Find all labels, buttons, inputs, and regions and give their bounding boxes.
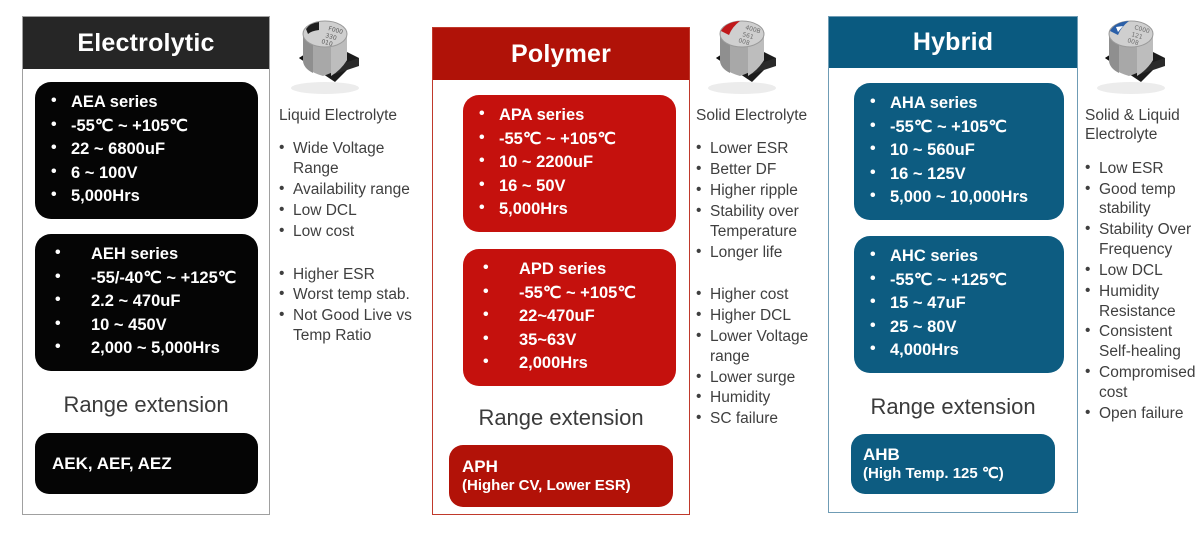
panel-body-hybrid: AHA series -55℃ ~ +105℃ 10 ~ 560uF 16 ~ …	[829, 83, 1077, 494]
pro-item: Low ESR	[1085, 159, 1197, 179]
extension-box-hybrid: AHB (High Temp. 125 ℃)	[851, 434, 1055, 494]
pro-item: Wide Voltage Range	[279, 139, 427, 179]
pro-item: Low DCL	[1085, 261, 1197, 281]
panel-polymer: Polymer APA series -55℃ ~ +105℃ 10 ~ 220…	[432, 27, 690, 515]
spec-item: 10 ~ 560uF	[868, 139, 1054, 163]
spec-item: AHA series	[868, 92, 1054, 116]
spec-item: 5,000 ~ 10,000Hrs	[868, 186, 1054, 210]
spec-item: 35~63V	[477, 329, 666, 353]
con-item: Lower surge	[696, 368, 824, 388]
spec-item: 16 ~ 50V	[477, 175, 666, 199]
spec-box-apa: APA series -55℃ ~ +105℃ 10 ~ 2200uF 16 ~…	[463, 95, 676, 232]
pro-item: Low DCL	[279, 201, 427, 221]
spec-box-aha: AHA series -55℃ ~ +105℃ 10 ~ 560uF 16 ~ …	[854, 83, 1064, 220]
pro-item: Compromised cost	[1085, 363, 1197, 403]
spec-item: AEA series	[49, 91, 248, 115]
pro-item: Availability range	[279, 180, 427, 200]
panel-title-polymer: Polymer	[433, 28, 689, 80]
range-extension-label-polymer: Range extension	[433, 405, 689, 431]
spec-item: 2,000Hrs	[477, 352, 666, 376]
smd-aluminum-capacitor-blue-icon: C000 121 008	[1085, 8, 1197, 96]
spec-box-aea: AEA series -55℃ ~ +105℃ 22 ~ 6800uF 6 ~ …	[35, 82, 258, 219]
side-notes-polymer: 400B 561 008 Solid Electrolyte Lower ESR…	[696, 8, 824, 430]
side-notes-electrolytic: F000 330 010 Liquid Electrolyte Wide Vol…	[279, 8, 427, 347]
spec-item: 22~470uF	[477, 305, 666, 329]
pro-item: Open failure	[1085, 404, 1197, 424]
smd-aluminum-capacitor-red-icon: 400B 561 008	[696, 8, 824, 96]
con-item: Lower Voltage range	[696, 327, 824, 367]
pro-item: Higher ripple	[696, 181, 824, 201]
pro-item: Stability Over Frequency	[1085, 220, 1197, 260]
extension-box-polymer: APH (Higher CV, Lower ESR)	[449, 445, 673, 507]
panel-title-hybrid: Hybrid	[829, 17, 1077, 68]
extension-subtitle: (High Temp. 125 ℃)	[863, 465, 1055, 484]
con-item: Worst temp stab.	[279, 285, 427, 305]
spec-box-aeh: AEH series -55/-40℃ ~ +125℃ 2.2 ~ 470uF …	[35, 234, 258, 371]
range-extension-label-electrolytic: Range extension	[23, 392, 269, 418]
panel-body-polymer: APA series -55℃ ~ +105℃ 10 ~ 2200uF 16 ~…	[433, 95, 689, 507]
con-item: Humidity	[696, 388, 824, 408]
notes-spacer	[696, 263, 824, 285]
pros-list-electrolytic: Wide Voltage Range Availability range Lo…	[279, 139, 427, 241]
pros-list-polymer: Lower ESR Better DF Higher ripple Stabil…	[696, 139, 824, 262]
spec-item: 15 ~ 47uF	[868, 292, 1054, 316]
spec-item: 4,000Hrs	[868, 339, 1054, 363]
notes-spacer	[279, 243, 427, 265]
con-item: Higher cost	[696, 285, 824, 305]
spec-item: 6 ~ 100V	[49, 162, 248, 186]
electrolyte-type-electrolytic: Liquid Electrolyte	[279, 106, 427, 125]
spec-item: 5,000Hrs	[49, 185, 248, 209]
pro-item: Humidity Resistance	[1085, 282, 1197, 322]
extension-title: AHB	[863, 444, 1055, 465]
panel-electrolytic: Electrolytic AEA series -55℃ ~ +105℃ 22 …	[22, 16, 270, 515]
extension-title: AEK, AEF, AEZ	[52, 453, 258, 474]
pro-item: Stability over Temperature	[696, 202, 824, 242]
range-extension-label-hybrid: Range extension	[829, 394, 1077, 420]
spec-item: APD series	[477, 258, 666, 282]
spec-box-apd: APD series -55℃ ~ +105℃ 22~470uF 35~63V …	[463, 249, 676, 386]
con-item: Higher ESR	[279, 265, 427, 285]
spec-item: -55/-40℃ ~ +125℃	[49, 267, 248, 291]
spec-item: AHC series	[868, 245, 1054, 269]
pro-item: Lower ESR	[696, 139, 824, 159]
spec-item: -55℃ ~ +125℃	[868, 269, 1054, 293]
spec-item: 2.2 ~ 470uF	[49, 290, 248, 314]
panel-hybrid: Hybrid AHA series -55℃ ~ +105℃ 10 ~ 560u…	[828, 16, 1078, 513]
spec-item: 16 ~ 125V	[868, 163, 1054, 187]
pro-item: Good temp stability	[1085, 180, 1197, 220]
spec-item: 25 ~ 80V	[868, 316, 1054, 340]
extension-subtitle: (Higher CV, Lower ESR)	[462, 477, 673, 496]
spec-item: APA series	[477, 104, 666, 128]
spec-item: 5,000Hrs	[477, 198, 666, 222]
pro-item: Longer life	[696, 243, 824, 263]
pro-item: Consistent Self-healing	[1085, 322, 1197, 362]
electrolyte-type-hybrid: Solid & Liquid Electrolyte	[1085, 106, 1197, 145]
spec-item: AEH series	[49, 243, 248, 267]
con-item: SC failure	[696, 409, 824, 429]
spec-item: -55℃ ~ +105℃	[477, 282, 666, 306]
spec-box-ahc: AHC series -55℃ ~ +125℃ 15 ~ 47uF 25 ~ 8…	[854, 236, 1064, 373]
pro-item: Low cost	[279, 222, 427, 242]
pro-item: Better DF	[696, 160, 824, 180]
panel-body-electrolytic: AEA series -55℃ ~ +105℃ 22 ~ 6800uF 6 ~ …	[23, 82, 269, 494]
pros-list-hybrid: Low ESR Good temp stability Stability Ov…	[1085, 159, 1197, 424]
spec-item: 22 ~ 6800uF	[49, 138, 248, 162]
spec-item: 2,000 ~ 5,000Hrs	[49, 337, 248, 361]
capacitor-comparison-diagram: Electrolytic AEA series -55℃ ~ +105℃ 22 …	[0, 0, 1200, 533]
extension-title: APH	[462, 456, 673, 477]
panel-title-electrolytic: Electrolytic	[23, 17, 269, 69]
spec-item: -55℃ ~ +105℃	[477, 128, 666, 152]
con-item: Not Good Live vs Temp Ratio	[279, 306, 427, 346]
spec-item: -55℃ ~ +105℃	[49, 115, 248, 139]
side-notes-hybrid: C000 121 008 Solid & Liquid Electrolyte …	[1085, 8, 1197, 425]
cons-list-polymer: Higher cost Higher DCL Lower Voltage ran…	[696, 285, 824, 429]
spec-item: 10 ~ 2200uF	[477, 151, 666, 175]
smd-aluminum-capacitor-black-icon: F000 330 010	[279, 8, 427, 96]
extension-box-electrolytic: AEK, AEF, AEZ	[35, 433, 258, 494]
spec-item: 10 ~ 450V	[49, 314, 248, 338]
spec-item: -55℃ ~ +105℃	[868, 116, 1054, 140]
electrolyte-type-polymer: Solid Electrolyte	[696, 106, 824, 125]
cons-list-electrolytic: Higher ESR Worst temp stab. Not Good Liv…	[279, 265, 427, 346]
con-item: Higher DCL	[696, 306, 824, 326]
